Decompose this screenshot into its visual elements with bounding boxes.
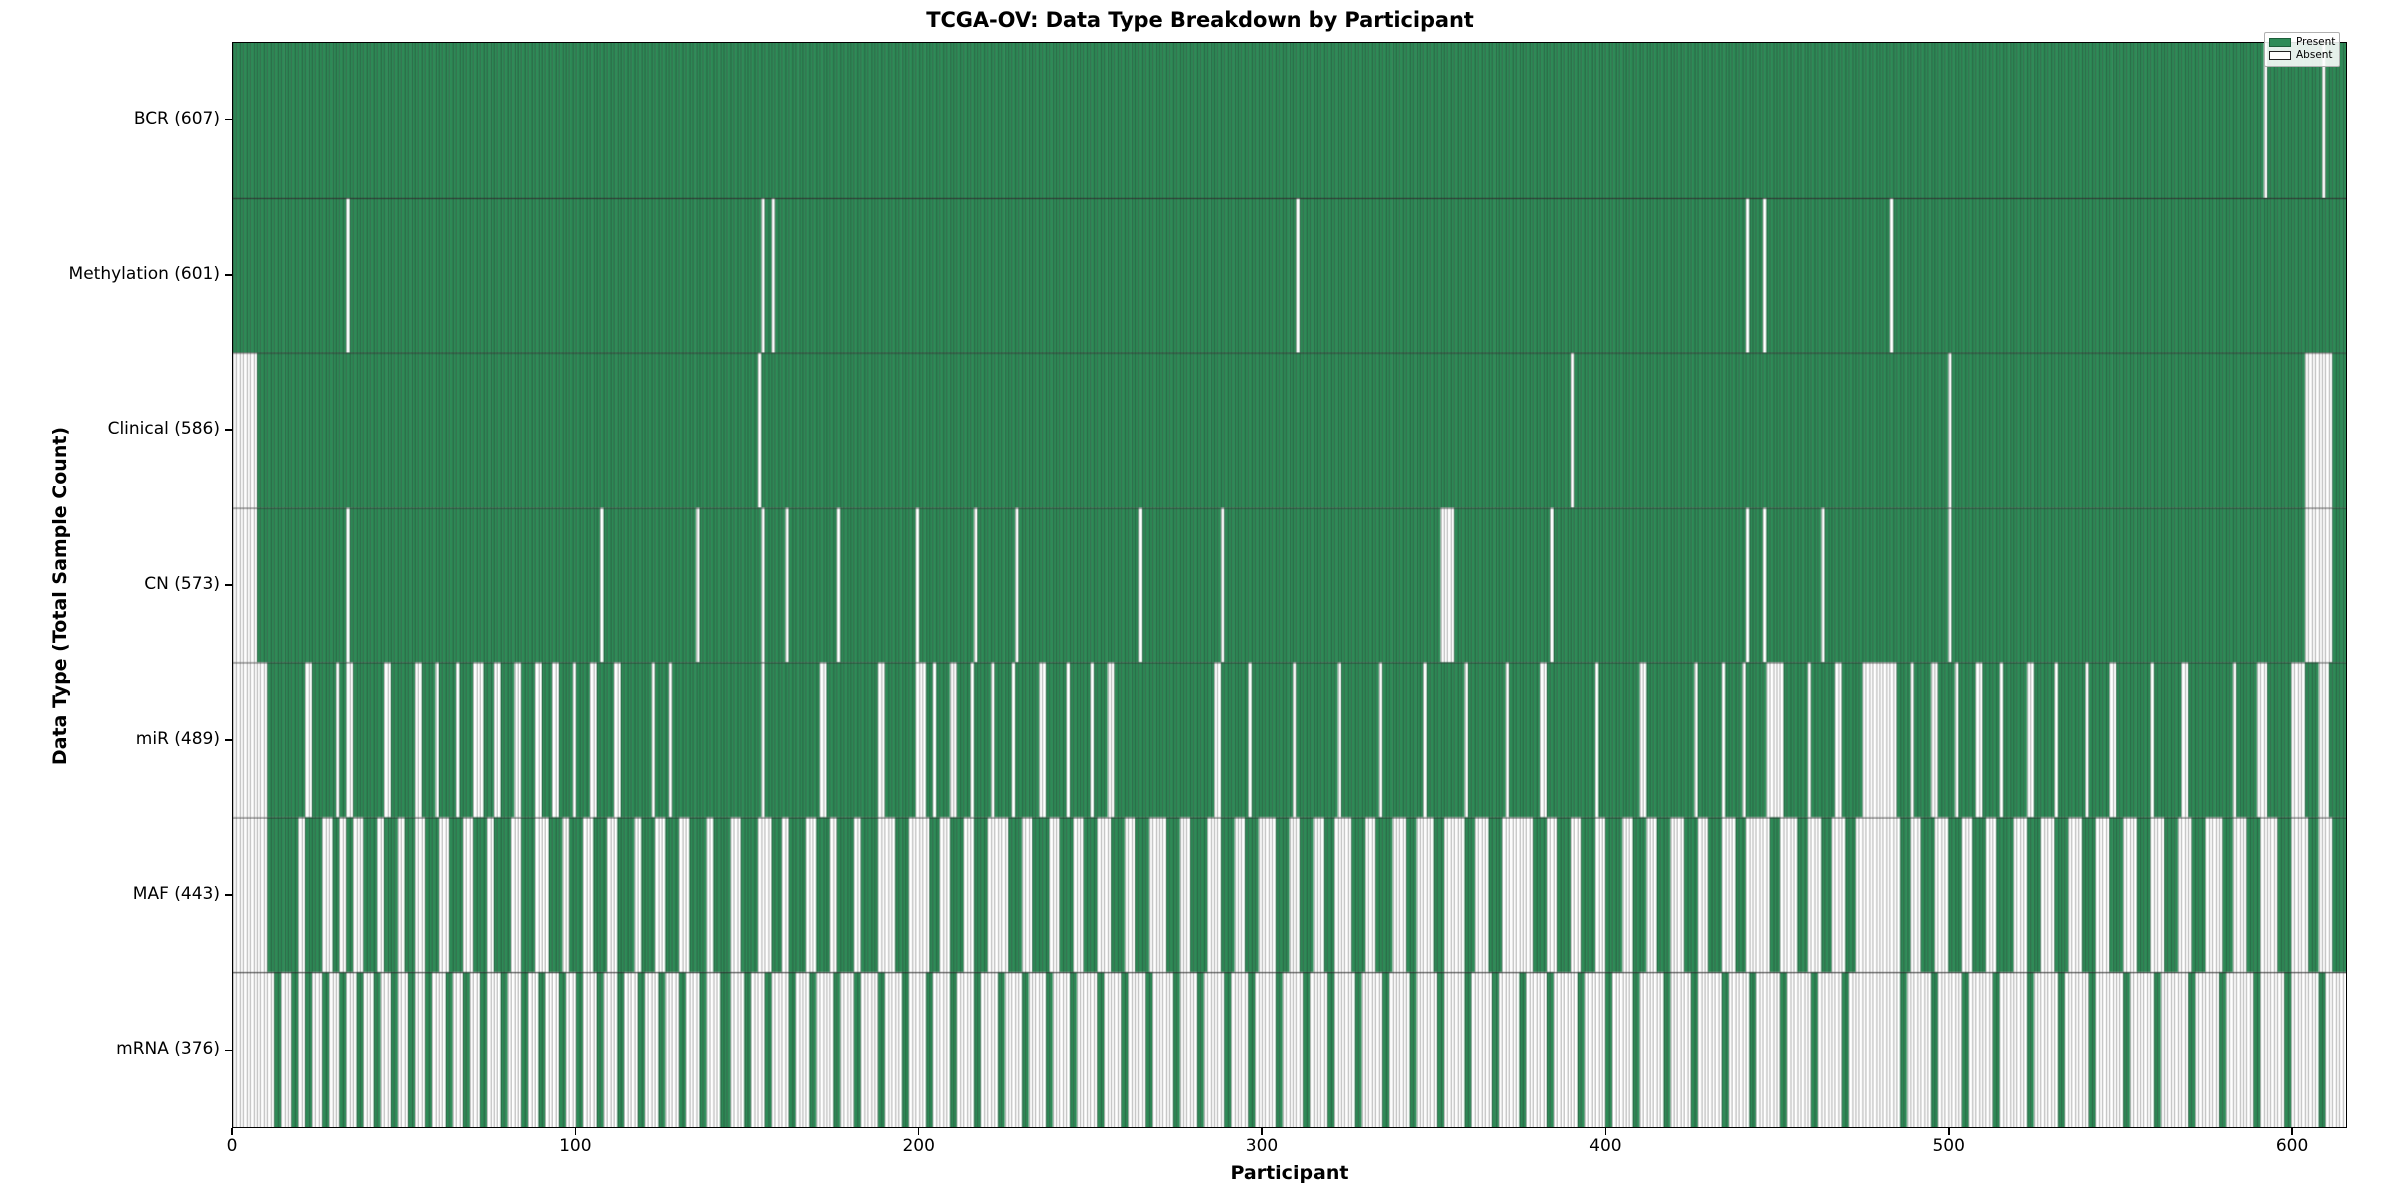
x-tick-label-400: 400: [1589, 1136, 1621, 1156]
y-tick-label-bcr: BCR (607): [0, 109, 220, 129]
y-tick-mark-mrna: [225, 1050, 232, 1052]
y-tick-label-clinical: Clinical (586): [0, 419, 220, 439]
legend-item-absent[interactable]: Absent: [2269, 49, 2335, 62]
y-tick-mark-clinical: [225, 429, 232, 431]
x-tick-label-300: 300: [1246, 1136, 1278, 1156]
x-tick-mark-200: [918, 1128, 920, 1135]
y-tick-label-cn: CN (573): [0, 574, 220, 594]
x-tick-label-0: 0: [227, 1136, 238, 1156]
x-tick-mark-500: [1948, 1128, 1950, 1135]
y-tick-label-mir: miR (489): [0, 729, 220, 749]
y-tick-mark-methylation: [225, 274, 232, 276]
legend-label-absent: Absent: [2296, 50, 2333, 61]
x-tick-mark-100: [575, 1128, 577, 1135]
x-tick-label-500: 500: [1932, 1136, 1964, 1156]
x-tick-mark-600: [2291, 1128, 2293, 1135]
y-tick-label-mrna: mRNA (376): [0, 1039, 220, 1059]
x-tick-mark-400: [1605, 1128, 1607, 1135]
y-tick-mark-cn: [225, 584, 232, 586]
legend-item-present[interactable]: Present: [2269, 36, 2335, 49]
legend-swatch-absent-icon: [2269, 51, 2291, 60]
x-axis-title: Participant: [232, 1162, 2347, 1184]
legend-label-present: Present: [2296, 37, 2335, 48]
x-tick-mark-300: [1261, 1128, 1263, 1135]
y-tick-label-methylation: Methylation (601): [0, 264, 220, 284]
x-tick-label-200: 200: [902, 1136, 934, 1156]
y-tick-mark-maf: [225, 894, 232, 896]
y-tick-mark-mir: [225, 739, 232, 741]
x-tick-label-100: 100: [559, 1136, 591, 1156]
legend[interactable]: PresentAbsent: [2264, 32, 2340, 67]
y-tick-mark-bcr: [225, 119, 232, 121]
figure-canvas: TCGA-OV: Data Type Breakdown by Particip…: [0, 0, 2400, 1200]
heatmap-bars[interactable]: [233, 43, 2346, 1127]
y-tick-label-maf: MAF (443): [0, 884, 220, 904]
x-tick-label-600: 600: [2276, 1136, 2308, 1156]
legend-swatch-present-icon: [2269, 38, 2291, 47]
x-tick-mark-0: [231, 1128, 233, 1135]
plot-area[interactable]: [232, 42, 2347, 1128]
page-title: TCGA-OV: Data Type Breakdown by Particip…: [0, 8, 2400, 32]
